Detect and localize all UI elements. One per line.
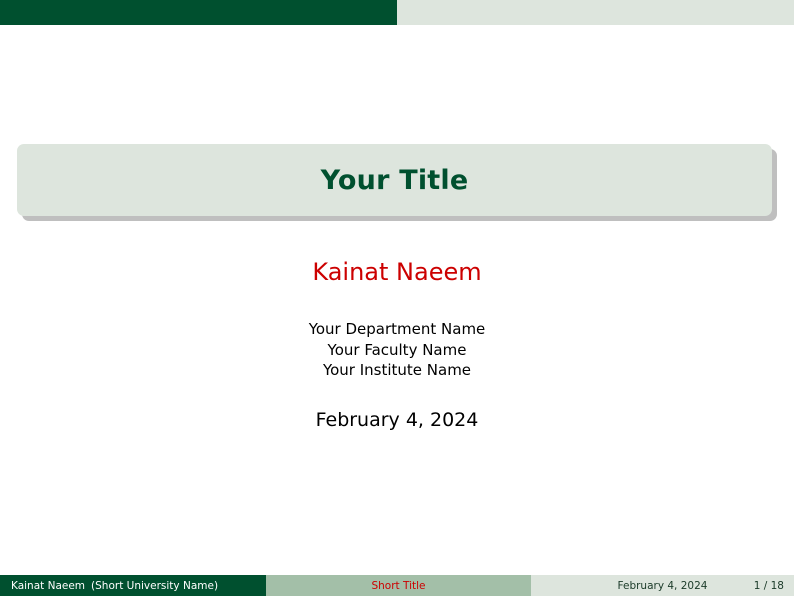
slide-header-bars bbox=[0, 0, 794, 25]
footline-author-segment: Kainat Naeem (Short University Name) bbox=[0, 575, 266, 596]
footline-title: Short Title bbox=[371, 580, 425, 592]
footline-date-segment: February 4, 2024 1 / 18 bbox=[531, 575, 794, 596]
footline-author: Kainat Naeem bbox=[11, 580, 85, 592]
affiliation-line-faculty: Your Faculty Name bbox=[0, 340, 794, 361]
presentation-slide: Your Title Kainat Naeem Your Department … bbox=[0, 0, 794, 596]
author-name: Kainat Naeem bbox=[0, 258, 794, 286]
footline-title-segment: Short Title bbox=[266, 575, 531, 596]
title-block-panel: Your Title bbox=[17, 144, 772, 216]
footline: Kainat Naeem (Short University Name) Sho… bbox=[0, 575, 794, 596]
page-title: Your Title bbox=[321, 165, 469, 196]
affiliation-block: Your Department Name Your Faculty Name Y… bbox=[0, 319, 794, 381]
presentation-date: February 4, 2024 bbox=[0, 409, 794, 431]
affiliation-line-institute: Your Institute Name bbox=[0, 360, 794, 381]
footline-institute: (Short University Name) bbox=[91, 580, 218, 592]
affiliation-line-department: Your Department Name bbox=[0, 319, 794, 340]
header-bar-right bbox=[397, 0, 794, 25]
title-block: Your Title bbox=[17, 144, 777, 218]
header-bar-left bbox=[0, 0, 397, 25]
footline-page-number: 1 / 18 bbox=[754, 580, 784, 592]
